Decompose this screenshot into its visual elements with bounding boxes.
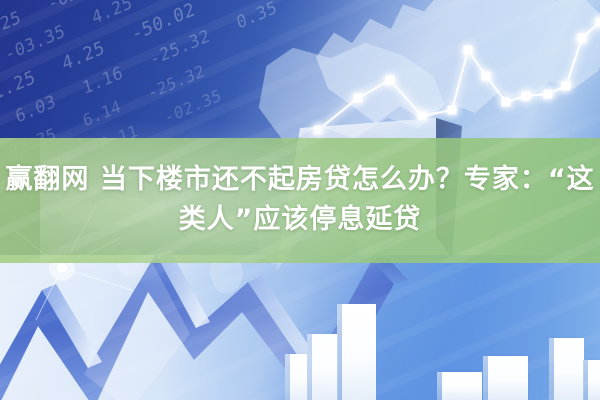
line-chart-node xyxy=(464,46,473,55)
bar-item xyxy=(312,334,338,400)
line-chart-node xyxy=(386,76,395,85)
line-chart-node xyxy=(522,92,531,101)
line-chart-node xyxy=(482,72,491,81)
line-chart-node xyxy=(578,34,587,43)
bar-item xyxy=(588,360,600,400)
line-chart-node xyxy=(596,18,600,27)
line-chart-node xyxy=(502,98,511,107)
line-chart-node xyxy=(544,90,553,99)
bar-item xyxy=(554,338,584,400)
bar-item xyxy=(488,356,528,400)
page-title: 赢翻网 当下楼市还不起房贷怎么办？专家：“这 类人”应该停息延贷 xyxy=(0,160,600,240)
bar-item xyxy=(442,372,482,400)
bar-item xyxy=(342,304,376,400)
line-chart-node xyxy=(354,94,363,103)
line-chart-node xyxy=(562,82,571,91)
bar-chart-graphic xyxy=(290,280,600,400)
news-thumbnail-poster: -03.35 -11.25 +45.02 21.02 2.35 -11.25 +… xyxy=(0,0,600,400)
